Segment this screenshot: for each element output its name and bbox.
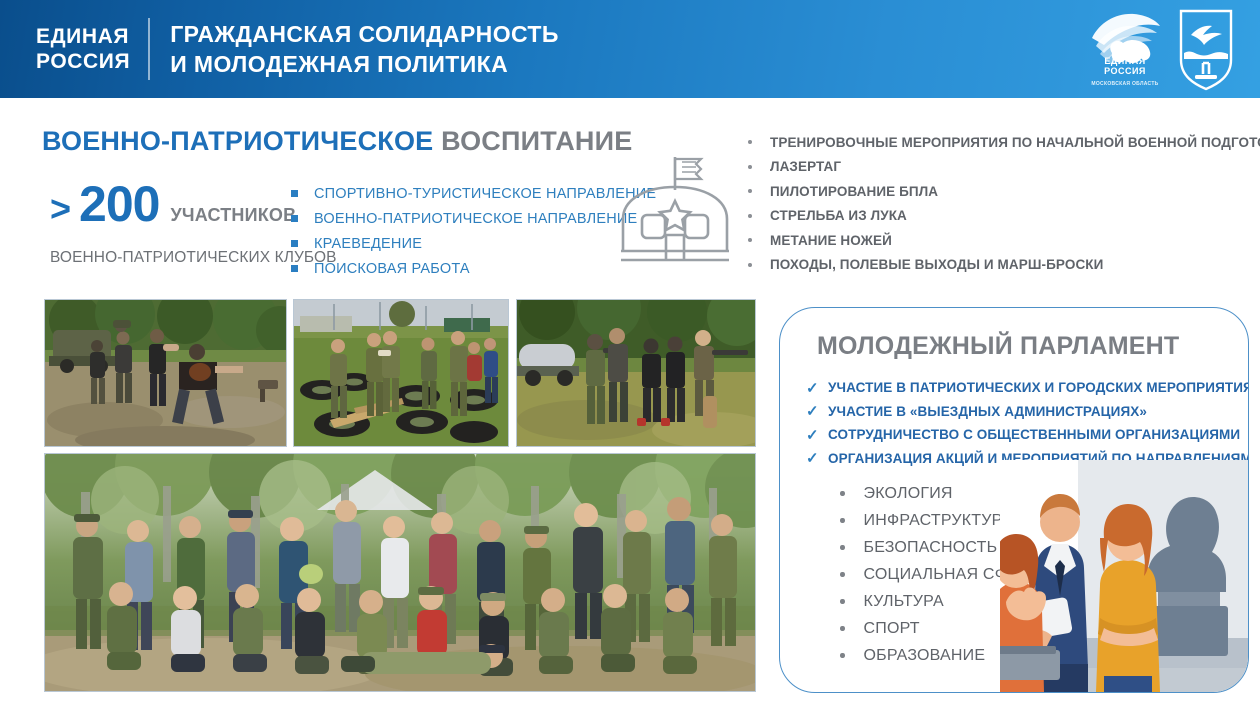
barracks-building-icon — [611, 143, 739, 271]
list-item: ✓ УЧАСТИЕ В «ВЫЕЗДНЫХ АДМИНИСТРАЦИЯХ» — [806, 400, 1249, 424]
activity-label: ЛАЗЕРТАГ — [770, 159, 841, 174]
brand-united-russia: ЕДИНАЯ РОССИЯ — [36, 24, 148, 74]
subdirection-label: КУЛЬТУРА — [864, 593, 944, 611]
coat-of-arms-icon — [1178, 8, 1234, 92]
people-illustration — [1000, 460, 1248, 692]
check-icon: ✓ — [806, 379, 828, 397]
dot-bullet-icon — [748, 140, 752, 144]
check-label: СОТРУДНИЧЕСТВО С ОБЩЕСТВЕННЫМИ ОРГАНИЗАЦ… — [828, 427, 1240, 442]
subdirection-label: БЕЗОПАСНОСТЬ — [864, 539, 998, 557]
brand-line-1: ЕДИНАЯ — [36, 24, 130, 49]
activity-label: ТРЕНИРОВОЧНЫЕ МЕРОПРИЯТИЯ ПО НАЧАЛЬНОЙ В… — [770, 135, 1260, 150]
activity-label: ПИЛОТИРОВАНИЕ БПЛА — [770, 184, 938, 199]
activities-list: ТРЕНИРОВОЧНЫЕ МЕРОПРИЯТИЯ ПО НАЧАЛЬНОЙ В… — [748, 130, 1260, 277]
square-bullet-icon — [291, 215, 298, 222]
stat-unit: УЧАСТНИКОВ — [170, 205, 296, 226]
list-item: КРАЕВЕДЕНИЕ — [291, 231, 656, 256]
photo-hand-to-hand-training — [44, 299, 287, 447]
subdirection-label: ИНФРАСТРУКТУРА — [864, 512, 1013, 530]
photo-4-artwork — [45, 454, 755, 691]
logo-wordmark: ЕДИНАЯ РОССИЯ — [1086, 56, 1164, 76]
directions-list: СПОРТИВНО-ТУРИСТИЧЕСКОЕ НАПРАВЛЕНИЕ ВОЕН… — [291, 181, 656, 281]
list-item: СТРЕЛЬБА ИЗ ЛУКА — [748, 204, 1260, 229]
header-logos: ЕДИНАЯ РОССИЯ МОСКОВСКАЯ ОБЛАСТЬ — [1086, 8, 1234, 92]
youth-parliament-title: МОЛОДЕЖНЫЙ ПАРЛАМЕНТ — [817, 332, 1179, 361]
list-item: ПОИСКОВАЯ РАБОТА — [291, 256, 656, 281]
dot-bullet-icon — [748, 214, 752, 218]
list-item: ✓ УЧАСТИЕ В ПАТРИОТИЧЕСКИХ И ГОРОДСКИХ М… — [806, 376, 1249, 400]
activity-label: МЕТАНИЕ НОЖЕЙ — [770, 233, 892, 248]
direction-label: КРАЕВЕДЕНИЕ — [314, 236, 422, 252]
subdirection-label: ОБРАЗОВАНИЕ — [864, 647, 986, 665]
check-label: УЧАСТИЕ В ПАТРИОТИЧЕСКИХ И ГОРОДСКИХ МЕР… — [828, 380, 1249, 395]
dot-bullet-icon — [748, 263, 752, 267]
subdirection-label: ЭКОЛОГИЯ — [864, 485, 953, 503]
logo-region-label: МОСКОВСКАЯ ОБЛАСТЬ — [1086, 81, 1164, 87]
dot-bullet-icon — [840, 518, 845, 523]
photo-2-artwork — [294, 300, 508, 446]
subdirection-label: СПОРТ — [864, 620, 920, 638]
activity-label: ПОХОДЫ, ПОЛЕВЫЕ ВЫХОДЫ И МАРШ-БРОСКИ — [770, 257, 1103, 272]
dot-bullet-icon — [748, 165, 752, 169]
dot-bullet-icon — [840, 572, 845, 577]
square-bullet-icon — [291, 190, 298, 197]
list-item: ТРЕНИРОВОЧНЫЕ МЕРОПРИЯТИЯ ПО НАЧАЛЬНОЙ В… — [748, 130, 1260, 155]
united-russia-logo: ЕДИНАЯ РОССИЯ МОСКОВСКАЯ ОБЛАСТЬ — [1086, 8, 1164, 90]
section-title-grey: ВОСПИТАНИЕ — [441, 126, 632, 156]
logo-wordmark-line-1: ЕДИНАЯ — [1086, 56, 1164, 66]
list-item: ПИЛОТИРОВАНИЕ БПЛА — [748, 179, 1260, 204]
list-item: ВОЕННО-ПАТРИОТИЧЕСКОЕ НАПРАВЛЕНИЕ — [291, 206, 656, 231]
list-item: ПОХОДЫ, ПОЛЕВЫЕ ВЫХОДЫ И МАРШ-БРОСКИ — [748, 253, 1260, 278]
list-item: МЕТАНИЕ НОЖЕЙ — [748, 228, 1260, 253]
dot-bullet-icon — [840, 599, 845, 604]
check-icon: ✓ — [806, 402, 828, 420]
list-item: ЛАЗЕРТАГ — [748, 155, 1260, 180]
direction-label: СПОРТИВНО-ТУРИСТИЧЕСКОЕ НАПРАВЛЕНИЕ — [314, 186, 656, 202]
dot-bullet-icon — [748, 238, 752, 242]
slide-header: ЕДИНАЯ РОССИЯ ГРАЖДАНСКАЯ СОЛИДАРНОСТЬ И… — [0, 0, 1260, 98]
section-title-blue: ВОЕННО-ПАТРИОТИЧЕСКОЕ — [42, 126, 433, 156]
photo-group-gathering — [44, 453, 756, 692]
list-item: ✓ СОТРУДНИЧЕСТВО С ОБЩЕСТВЕННЫМИ ОРГАНИЗ… — [806, 423, 1249, 447]
square-bullet-icon — [291, 240, 298, 247]
section-title: ВОЕННО-ПАТРИОТИЧЕСКОЕ ВОСПИТАНИЕ — [42, 126, 632, 157]
page-title: ГРАЖДАНСКАЯ СОЛИДАРНОСТЬ И МОЛОДЕЖНАЯ ПО… — [150, 19, 559, 79]
youth-parliament-checklist: ✓ УЧАСТИЕ В ПАТРИОТИЧЕСКИХ И ГОРОДСКИХ М… — [806, 376, 1249, 470]
dot-bullet-icon — [840, 545, 845, 550]
check-label: УЧАСТИЕ В «ВЫЕЗДНЫХ АДМИНИСТРАЦИЯХ» — [828, 404, 1147, 419]
photo-3-artwork — [517, 300, 755, 446]
dot-bullet-icon — [840, 653, 845, 658]
dot-bullet-icon — [748, 189, 752, 193]
direction-label: ВОЕННО-ПАТРИОТИЧЕСКОЕ НАПРАВЛЕНИЕ — [314, 211, 637, 227]
check-icon: ✓ — [806, 426, 828, 444]
stat-comparator: > — [50, 188, 71, 230]
photo-shooting-practice — [516, 299, 756, 447]
list-item: СПОРТИВНО-ТУРИСТИЧЕСКОЕ НАПРАВЛЕНИЕ — [291, 181, 656, 206]
check-icon: ✓ — [806, 449, 828, 467]
logo-wordmark-line-2: РОССИЯ — [1086, 66, 1164, 76]
brand-lockup: ЕДИНАЯ РОССИЯ ГРАЖДАНСКАЯ СОЛИДАРНОСТЬ И… — [36, 18, 559, 80]
page-title-line-2: И МОЛОДЕЖНАЯ ПОЛИТИКА — [170, 49, 559, 79]
slide-root: ЕДИНАЯ РОССИЯ ГРАЖДАНСКАЯ СОЛИДАРНОСТЬ И… — [0, 0, 1260, 702]
youth-parliament-panel: МОЛОДЕЖНЫЙ ПАРЛАМЕНТ ✓ УЧАСТИЕ В ПАТРИОТ… — [779, 307, 1249, 693]
dot-bullet-icon — [840, 491, 845, 496]
stat-number: 200 — [79, 178, 159, 230]
page-title-line-1: ГРАЖДАНСКАЯ СОЛИДАРНОСТЬ — [170, 19, 559, 49]
activity-label: СТРЕЛЬБА ИЗ ЛУКА — [770, 208, 907, 223]
square-bullet-icon — [291, 265, 298, 272]
brand-line-2: РОССИЯ — [36, 49, 130, 74]
photo-obstacle-course-tires — [293, 299, 509, 447]
dot-bullet-icon — [840, 626, 845, 631]
photo-1-artwork — [45, 300, 286, 446]
direction-label: ПОИСКОВАЯ РАБОТА — [314, 261, 470, 277]
